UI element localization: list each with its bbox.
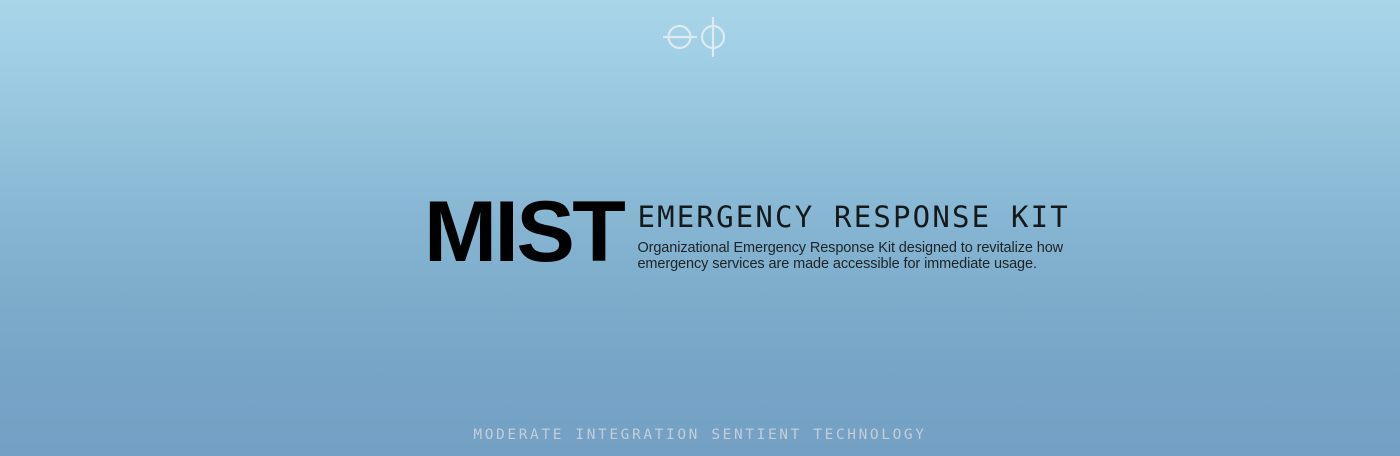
subtitle-line-2: emergency services are made accessible f…	[637, 257, 997, 273]
footer-tagline: MODERATE INTEGRATION SENTIENT TECHNOLOGY	[0, 426, 1400, 444]
subtitle: Organizational Emergency Response Kit de…	[637, 241, 997, 272]
circle-with-vertical-line-icon	[702, 17, 724, 57]
headline: EMERGENCY RESPONSE KIT	[637, 200, 1070, 234]
subtitle-line-1: Organizational Emergency Response Kit de…	[637, 241, 997, 257]
logo-mark-svg	[662, 12, 738, 62]
lockup-text-block: EMERGENCY RESPONSE KIT Organizational Em…	[637, 196, 1070, 272]
brand-logo-mark	[0, 12, 1400, 62]
poster-canvas: MIST EMERGENCY RESPONSE KIT Organization…	[0, 0, 1400, 456]
brand-lockup: MIST EMERGENCY RESPONSE KIT Organization…	[424, 196, 1070, 272]
wordmark: MIST	[424, 196, 623, 268]
circle-with-horizontal-line-icon	[663, 26, 697, 48]
